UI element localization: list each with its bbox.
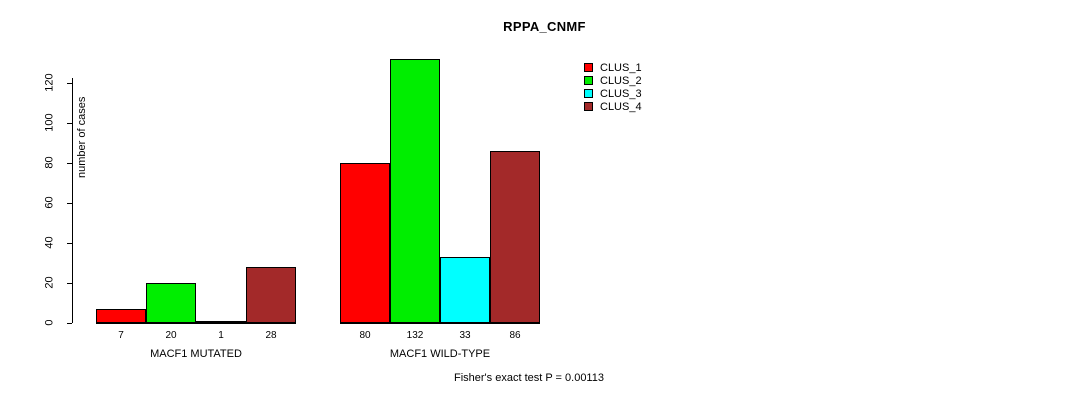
y-axis-tick <box>67 243 72 244</box>
legend-color-swatch <box>584 89 593 98</box>
bar-clus_2-group1 <box>146 283 196 323</box>
y-axis-tick <box>67 283 72 284</box>
legend-item-label: CLUS_3 <box>600 88 642 100</box>
y-axis-tick <box>67 83 72 84</box>
statistical-test-annotation: Fisher's exact test P = 0.00113 <box>0 372 1090 384</box>
plot-area: number of cases 020406080100120 720128MA… <box>72 58 552 323</box>
y-axis-tick <box>67 323 72 324</box>
group-baseline <box>340 323 540 324</box>
legend: CLUS_1CLUS_2CLUS_3CLUS_4 <box>584 62 704 114</box>
y-axis-tick-label: 0 <box>45 311 56 335</box>
bar-value-label: 20 <box>146 331 196 341</box>
legend-item-label: CLUS_4 <box>600 101 642 113</box>
bar-value-label: 7 <box>96 331 146 341</box>
y-axis-line <box>72 78 73 323</box>
legend-color-swatch <box>584 102 593 111</box>
legend-color-swatch <box>584 63 593 72</box>
y-axis-tick-label: 20 <box>45 271 56 295</box>
chart-canvas: RPPA_CNMF number of cases 02040608010012… <box>0 0 1090 400</box>
group-axis-label: MACF1 MUTATED <box>66 349 326 360</box>
bar-value-label: 80 <box>340 331 390 341</box>
group-baseline <box>96 323 296 324</box>
legend-item-clus_1: CLUS_1 <box>584 62 704 75</box>
page-title: RPPA_CNMF <box>0 19 1090 34</box>
y-axis-title: number of cases <box>76 97 88 178</box>
y-axis-tick <box>67 123 72 124</box>
bar-clus_1-group2 <box>340 163 390 323</box>
y-axis-tick <box>67 163 72 164</box>
bar-value-label: 1 <box>196 331 246 341</box>
chart-title-text: RPPA_CNMF <box>503 19 586 34</box>
legend-color-swatch <box>584 76 593 85</box>
bar-clus_1-group1 <box>96 309 146 323</box>
bar-value-label: 33 <box>440 331 490 341</box>
group-axis-label: MACF1 WILD-TYPE <box>310 349 570 360</box>
bar-value-label: 86 <box>490 331 540 341</box>
legend-item-label: CLUS_2 <box>600 75 642 87</box>
bar-clus_3-group2 <box>440 257 490 323</box>
y-axis-tick-label: 120 <box>45 71 56 95</box>
legend-item-clus_2: CLUS_2 <box>584 75 704 88</box>
legend-item-label: CLUS_1 <box>600 62 642 74</box>
bar-clus_4-group2 <box>490 151 540 323</box>
bar-value-label: 132 <box>390 331 440 341</box>
bar-clus_2-group2 <box>390 59 440 323</box>
bar-clus_3-group1 <box>196 321 246 323</box>
y-axis-tick <box>67 203 72 204</box>
bar-value-label: 28 <box>246 331 296 341</box>
y-axis-tick-label: 100 <box>45 111 56 135</box>
bar-clus_4-group1 <box>246 267 296 323</box>
legend-item-clus_3: CLUS_3 <box>584 88 704 101</box>
y-axis-tick-label: 80 <box>45 151 56 175</box>
statistical-test-text: Fisher's exact test P = 0.00113 <box>454 372 604 384</box>
y-axis-tick-label: 40 <box>45 231 56 255</box>
legend-item-clus_4: CLUS_4 <box>584 101 704 114</box>
y-axis-tick-label: 60 <box>45 191 56 215</box>
